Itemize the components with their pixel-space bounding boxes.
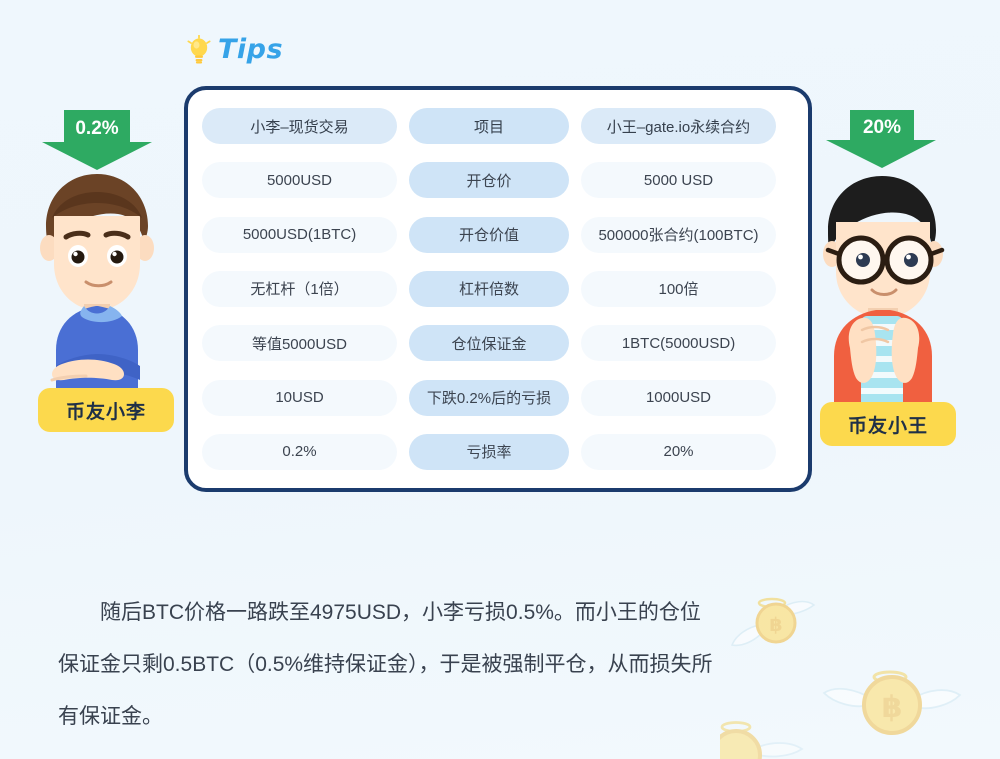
table-cell-label: 杠杆倍数 <box>409 271 569 307</box>
table-cell-right: 20% <box>581 434 776 470</box>
down-arrow-icon: 20% <box>826 110 936 168</box>
table-cell-right: 100倍 <box>581 271 776 307</box>
character-right-name-badge: 币友小王 <box>820 402 956 446</box>
table-cell-right: 5000 USD <box>581 162 776 198</box>
winged-coins-decoration: ฿ ฿ <box>720 579 1000 759</box>
table-cell-left: 0.2% <box>202 434 397 470</box>
character-left-name-badge: 币友小李 <box>38 388 174 432</box>
svg-text:฿: ฿ <box>882 690 903 725</box>
down-arrow-icon: 0.2% <box>42 110 152 170</box>
character-left-illustration: 0.2% <box>16 108 196 408</box>
table-cell-left: 小李–现货交易 <box>202 108 397 144</box>
table-cell-left: 5000USD <box>202 162 397 198</box>
table-cell-right: 1BTC(5000USD) <box>581 325 776 361</box>
tips-title: Tips <box>218 34 283 65</box>
table-cell-left: 5000USD(1BTC) <box>202 217 397 253</box>
lightbulb-icon <box>186 35 212 65</box>
tips-heading: Tips <box>186 34 283 65</box>
table-cell-label: 亏损率 <box>409 434 569 470</box>
table-cell-label: 项目 <box>409 108 569 144</box>
character-left-name: 币友小李 <box>66 397 146 424</box>
table-cell-right: 500000张合约(100BTC) <box>581 217 776 253</box>
table-row: 10USD下跌0.2%后的亏损1000USD <box>202 380 794 416</box>
table-row: 等值5000USD仓位保证金1BTC(5000USD) <box>202 325 794 361</box>
winged-bitcoin-coin-icon <box>720 723 802 759</box>
winged-bitcoin-coin-icon: ฿ <box>732 599 814 645</box>
explanation-paragraph: 随后BTC价格一路跌至4975USD，小李亏损0.5%。而小王的仓位保证金只剩0… <box>58 587 718 743</box>
table-cell-label: 仓位保证金 <box>409 325 569 361</box>
table-row: 小李–现货交易项目小王–gate.io永续合约 <box>202 108 794 144</box>
table-row: 0.2%亏损率20% <box>202 434 794 470</box>
table-row: 5000USD(1BTC)开仓价值500000张合约(100BTC) <box>202 217 794 253</box>
svg-text:20%: 20% <box>863 117 901 138</box>
table-cell-label: 开仓价值 <box>409 217 569 253</box>
comparison-table: 小李–现货交易项目小王–gate.io永续合约5000USD开仓价5000 US… <box>202 108 794 470</box>
table-cell-left: 等值5000USD <box>202 325 397 361</box>
svg-text:0.2%: 0.2% <box>75 118 118 139</box>
character-right-name: 币友小王 <box>848 411 928 438</box>
table-cell-right: 1000USD <box>581 380 776 416</box>
table-cell-left: 10USD <box>202 380 397 416</box>
table-cell-label: 下跌0.2%后的亏损 <box>409 380 569 416</box>
character-right: 20% <box>806 108 986 423</box>
comparison-card: 小李–现货交易项目小王–gate.io永续合约5000USD开仓价5000 US… <box>184 86 812 492</box>
table-cell-label: 开仓价 <box>409 162 569 198</box>
svg-text:฿: ฿ <box>769 614 782 636</box>
winged-bitcoin-coin-icon: ฿ <box>824 672 960 733</box>
character-left: 0.2% <box>16 108 196 413</box>
table-cell-left: 无杠杆（1倍） <box>202 271 397 307</box>
table-row: 5000USD开仓价5000 USD <box>202 162 794 198</box>
character-right-illustration: 20% <box>806 108 986 418</box>
table-cell-right: 小王–gate.io永续合约 <box>581 108 776 144</box>
table-row: 无杠杆（1倍）杠杆倍数100倍 <box>202 271 794 307</box>
